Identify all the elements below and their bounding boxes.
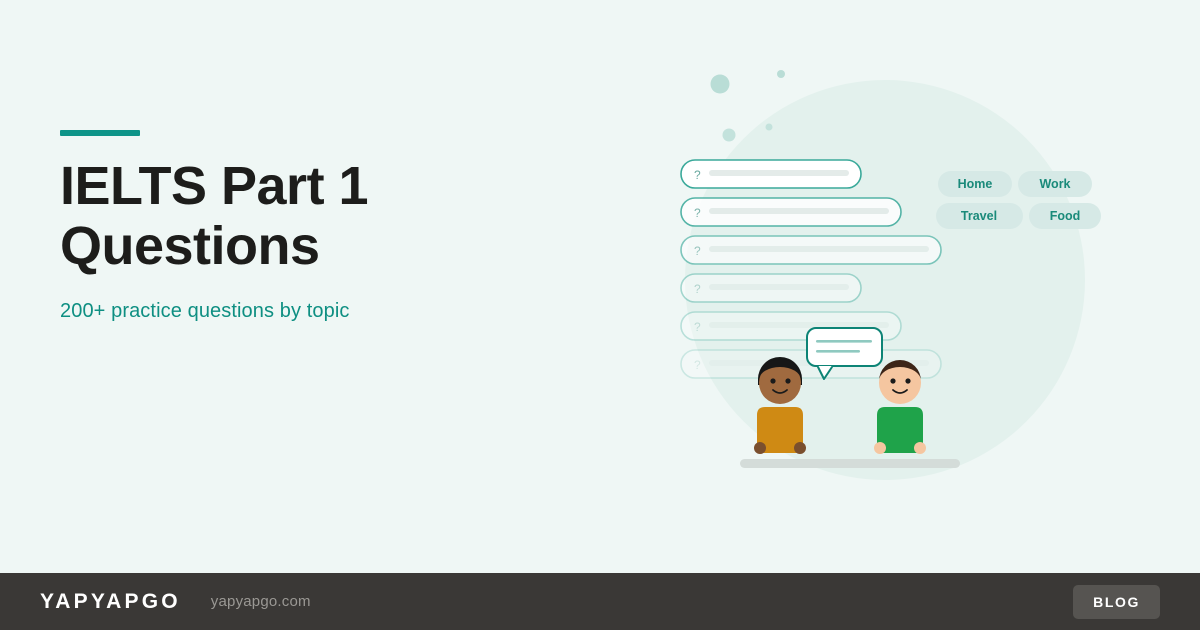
left-person-hand-left	[754, 442, 766, 454]
decorative-dot-tiny	[766, 124, 773, 131]
svg-text:?: ?	[694, 358, 701, 372]
footer-bar: YAPYAPGO yapyapgo.com BLOG	[0, 573, 1200, 630]
blog-button[interactable]: BLOG	[1073, 585, 1160, 619]
question-bar: ?	[681, 236, 941, 264]
decorative-dot-large	[711, 75, 730, 94]
left-person-eye-right	[785, 378, 790, 383]
accent-bar	[60, 130, 140, 136]
topic-pill-home: Home	[938, 171, 1012, 197]
right-person-hand-right	[914, 442, 926, 454]
speech-bubble-line	[816, 350, 860, 353]
svg-text:?: ?	[694, 320, 701, 334]
right-person-eye-right	[905, 378, 910, 383]
speech-bubble-line	[816, 340, 872, 343]
svg-text:?: ?	[694, 206, 701, 220]
brand-name: YAPYAPGO	[40, 590, 181, 614]
left-person-hand-right	[794, 442, 806, 454]
right-person-eye-left	[890, 378, 895, 383]
topic-pill-travel: Travel	[936, 203, 1023, 229]
svg-text:?: ?	[694, 168, 701, 182]
ground-bar	[740, 459, 960, 468]
hero-illustration: ? ? ? ? ?	[660, 40, 1120, 500]
page-title: IELTS Part 1 Questions	[60, 156, 480, 277]
page-subtitle: 200+ practice questions by topic	[60, 300, 580, 323]
topic-pill-work: Work	[1018, 171, 1092, 197]
svg-text:?: ?	[694, 282, 701, 296]
svg-text:Home: Home	[958, 177, 993, 191]
decorative-dot-medium	[723, 129, 736, 142]
svg-text:Work: Work	[1039, 177, 1070, 191]
svg-text:?: ?	[694, 244, 701, 258]
hero-text-block: IELTS Part 1 Questions 200+ practice que…	[60, 130, 580, 323]
topic-pill-food: Food	[1029, 203, 1101, 229]
right-person-hand-left	[874, 442, 886, 454]
question-bar: ?	[681, 198, 901, 226]
site-url: yapyapgo.com	[211, 593, 311, 610]
decorative-dot-small	[777, 70, 785, 78]
svg-text:Food: Food	[1050, 209, 1081, 223]
left-person-eye-left	[770, 378, 775, 383]
svg-text:Travel: Travel	[961, 209, 997, 223]
question-bar: ?	[681, 160, 861, 188]
question-bar: ?	[681, 274, 861, 302]
